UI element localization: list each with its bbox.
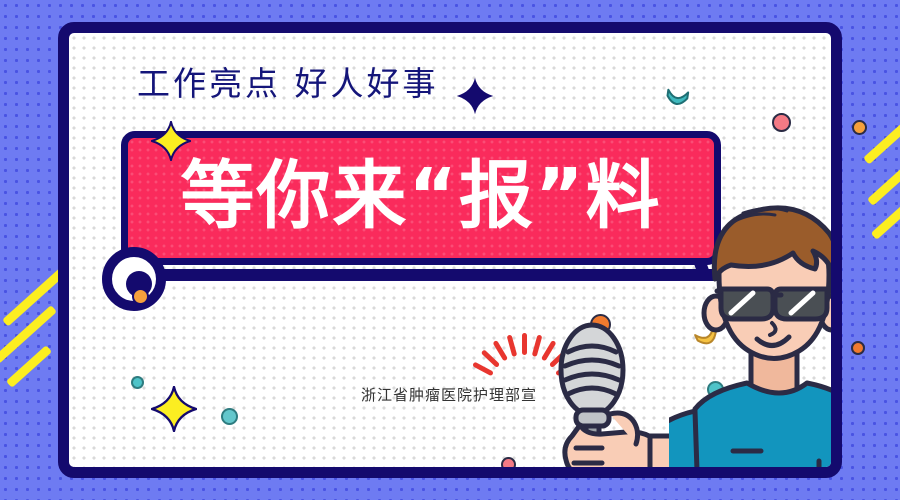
burst-ray xyxy=(507,334,518,357)
teal-curve-confetti xyxy=(664,87,691,112)
banner-background: 等你来“报”料 xyxy=(121,131,721,265)
page-caption: 浙江省肿瘤医院护理部宣 xyxy=(361,384,537,405)
burst-ray xyxy=(492,340,508,361)
yellow-sparkle-bottom-left xyxy=(151,386,197,432)
teal-dot-bottom-left xyxy=(221,408,238,425)
page-title: 等你来“报”料 xyxy=(128,138,714,258)
yellow-sparkle-top-left xyxy=(151,121,191,161)
banner-tail-bar xyxy=(113,269,727,281)
navy-sparkle-right xyxy=(837,193,842,223)
main-title-banner: 等你来“报”料 xyxy=(121,131,721,265)
burst-ray xyxy=(472,362,494,377)
character-illustration xyxy=(669,183,842,478)
orange-dot-outer-right xyxy=(851,341,865,355)
orange-dot-outer-right-upper xyxy=(852,120,867,135)
pink-dot-bottom-center xyxy=(501,457,516,472)
pink-dot-top-right xyxy=(772,113,791,132)
poster-frame: 工作亮点 好人好事 等你来“报”料 浙江省肿瘤医院护理部宣 xyxy=(58,22,842,478)
poster-canvas: 工作亮点 好人好事 等你来“报”料 浙江省肿瘤医院护理部宣 xyxy=(0,0,900,500)
page-headline: 工作亮点 好人好事 xyxy=(137,57,439,105)
orange-dot-banner-left xyxy=(132,288,149,305)
teal-dot-left-edge xyxy=(131,376,144,389)
navy-sparkle-top-center xyxy=(456,77,494,115)
